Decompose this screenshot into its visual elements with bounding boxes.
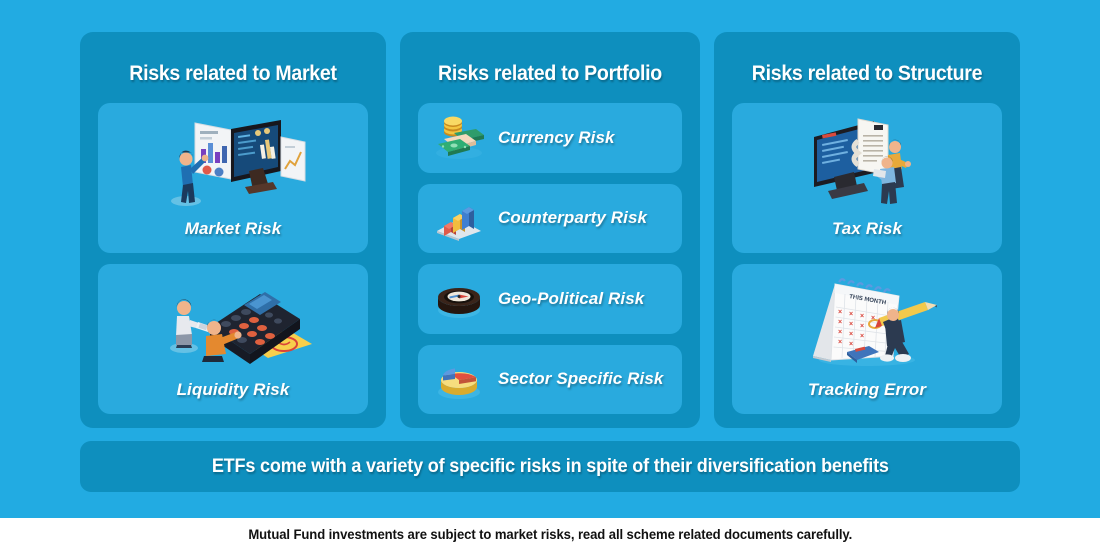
panel-body-market: Market Risk <box>98 103 368 414</box>
summary-banner-text: ETFs come with a variety of specific ris… <box>212 456 889 478</box>
panel-body-portfolio: Currency Risk <box>418 103 682 414</box>
card-market-risk[interactable]: Market Risk <box>98 103 368 253</box>
svg-text:×: × <box>838 329 842 336</box>
svg-text:×: × <box>838 309 842 316</box>
card-sector-specific-risk[interactable]: Sector Specific Risk <box>418 345 682 415</box>
svg-text:×: × <box>860 333 864 340</box>
summary-banner: ETFs come with a variety of specific ris… <box>80 441 1020 492</box>
card-currency-risk[interactable]: Currency Risk <box>418 103 682 173</box>
bar-chart-icon <box>432 194 486 242</box>
panel-title-market: Risks related to Market <box>107 42 358 103</box>
infographic-root: Risks related to Market <box>0 0 1100 550</box>
svg-text:×: × <box>849 321 853 328</box>
svg-text:×: × <box>849 311 853 318</box>
pie-chart-icon <box>432 355 486 403</box>
svg-text:×: × <box>849 331 853 338</box>
card-geo-political-risk[interactable]: Geo-Political Risk <box>418 264 682 334</box>
market-analytics-dashboard-icon <box>98 103 368 219</box>
svg-text:×: × <box>838 339 842 346</box>
card-tracking-error[interactable]: THIS MONTH <box>732 264 1002 414</box>
disclaimer-text: Mutual Fund investments are subject to m… <box>248 527 852 542</box>
card-label-geo-political-risk: Geo-Political Risk <box>498 289 644 309</box>
card-label-tax-risk: Tax Risk <box>832 219 902 239</box>
card-tax-risk[interactable]: Tax Risk <box>732 103 1002 253</box>
svg-text:×: × <box>860 323 864 330</box>
card-label-counterparty-risk: Counterparty Risk <box>498 208 647 228</box>
panel-body-structure: Tax Risk THIS MONTH <box>732 103 1002 414</box>
disclaimer-footer: Mutual Fund investments are subject to m… <box>0 518 1100 550</box>
compass-icon <box>432 275 486 323</box>
monitor-tax-document-icon <box>732 103 1002 219</box>
calculator-people-icon <box>98 264 368 380</box>
svg-text:×: × <box>838 319 842 326</box>
risk-columns: Risks related to Market <box>80 32 1020 428</box>
card-liquidity-risk[interactable]: Liquidity Risk <box>98 264 368 414</box>
panel-risks-portfolio: Risks related to Portfolio <box>400 32 700 428</box>
card-label-liquidity-risk: Liquidity Risk <box>177 380 290 400</box>
panel-risks-market: Risks related to Market <box>80 32 386 428</box>
card-label-sector-specific-risk: Sector Specific Risk <box>498 369 663 389</box>
card-label-market-risk: Market Risk <box>185 219 282 239</box>
panel-title-structure: Risks related to Structure <box>741 42 992 103</box>
panel-title-portfolio: Risks related to Portfolio <box>427 42 673 103</box>
svg-text:×: × <box>860 313 864 320</box>
card-label-currency-risk: Currency Risk <box>498 128 615 148</box>
calendar-person-pencil-icon: THIS MONTH <box>732 264 1002 380</box>
svg-text:×: × <box>849 341 853 348</box>
card-counterparty-risk[interactable]: Counterparty Risk <box>418 184 682 254</box>
banknotes-coins-icon <box>432 114 486 162</box>
panel-risks-structure: Risks related to Structure <box>714 32 1020 428</box>
card-label-tracking-error: Tracking Error <box>808 380 926 400</box>
